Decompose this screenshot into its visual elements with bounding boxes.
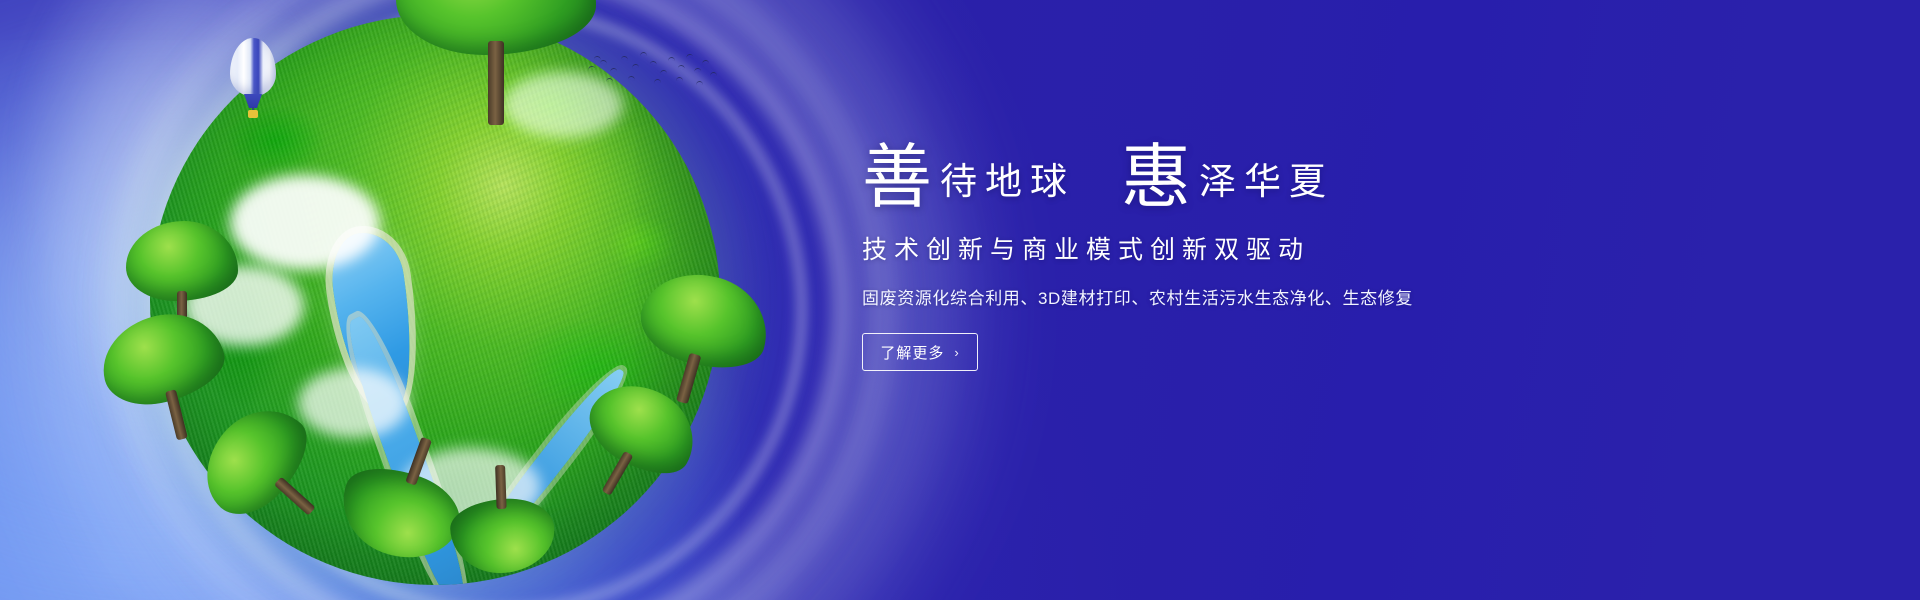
tree-trunk [165, 389, 188, 440]
hero-description: 固废资源化综合利用、3D建材打印、农村生活污水生态净化、生态修复 [862, 284, 1562, 309]
hero-content: 善 待地球 惠 泽华夏 技术创新与商业模式创新双驱动 固废资源化综合利用、3D建… [862, 120, 1562, 371]
balloon-skirt [244, 94, 262, 108]
hero-subtitle: 技术创新与商业模式创新双驱动 [862, 230, 1562, 266]
balloon-basket [248, 110, 258, 118]
bird-icon [621, 56, 628, 61]
bird-icon [696, 81, 703, 85]
headline-part2-big: 惠 [1121, 146, 1191, 213]
bird-icon [610, 67, 618, 72]
hero-banner: 善 待地球 惠 泽华夏 技术创新与商业模式创新双驱动 固废资源化综合利用、3D建… [0, 0, 1920, 600]
tree-trunk [274, 477, 316, 516]
tree-icon [396, 0, 596, 113]
bird-icon [676, 77, 683, 81]
headline-part1-big: 善 [862, 146, 932, 213]
bird-icon [588, 65, 596, 71]
bird-icon [640, 52, 647, 56]
bird-icon [702, 60, 709, 65]
bird-icon [710, 72, 717, 76]
bird-icon [686, 53, 694, 59]
bird-icon [694, 67, 702, 72]
chevron-right-icon: › [954, 346, 959, 359]
learn-more-label: 了解更多 [880, 342, 944, 363]
hot-air-balloon-icon [230, 38, 276, 120]
bird-icon [628, 76, 635, 81]
bird-icon [678, 64, 686, 69]
bird-icon [600, 60, 607, 65]
tree-icon [448, 465, 556, 575]
bird-icon [606, 78, 613, 82]
bird-icon [632, 64, 639, 69]
tree-crown [126, 221, 238, 301]
page-title: 善 待地球 惠 泽华夏 [862, 120, 1562, 212]
bird-icon [650, 60, 658, 65]
tree-trunk [488, 41, 504, 125]
globe-cloud [230, 175, 380, 270]
bird-icon [668, 57, 675, 61]
bird-icon [654, 79, 661, 83]
bird-icon [594, 55, 602, 60]
learn-more-button[interactable]: 了解更多 › [862, 333, 978, 371]
balloon-envelope [230, 38, 276, 96]
headline-part2-small: 泽华夏 [1199, 153, 1334, 212]
birds-flock-icon [588, 48, 718, 92]
headline-part1-small: 待地球 [940, 153, 1075, 212]
tree-trunk [495, 465, 507, 509]
bird-icon [660, 70, 667, 75]
